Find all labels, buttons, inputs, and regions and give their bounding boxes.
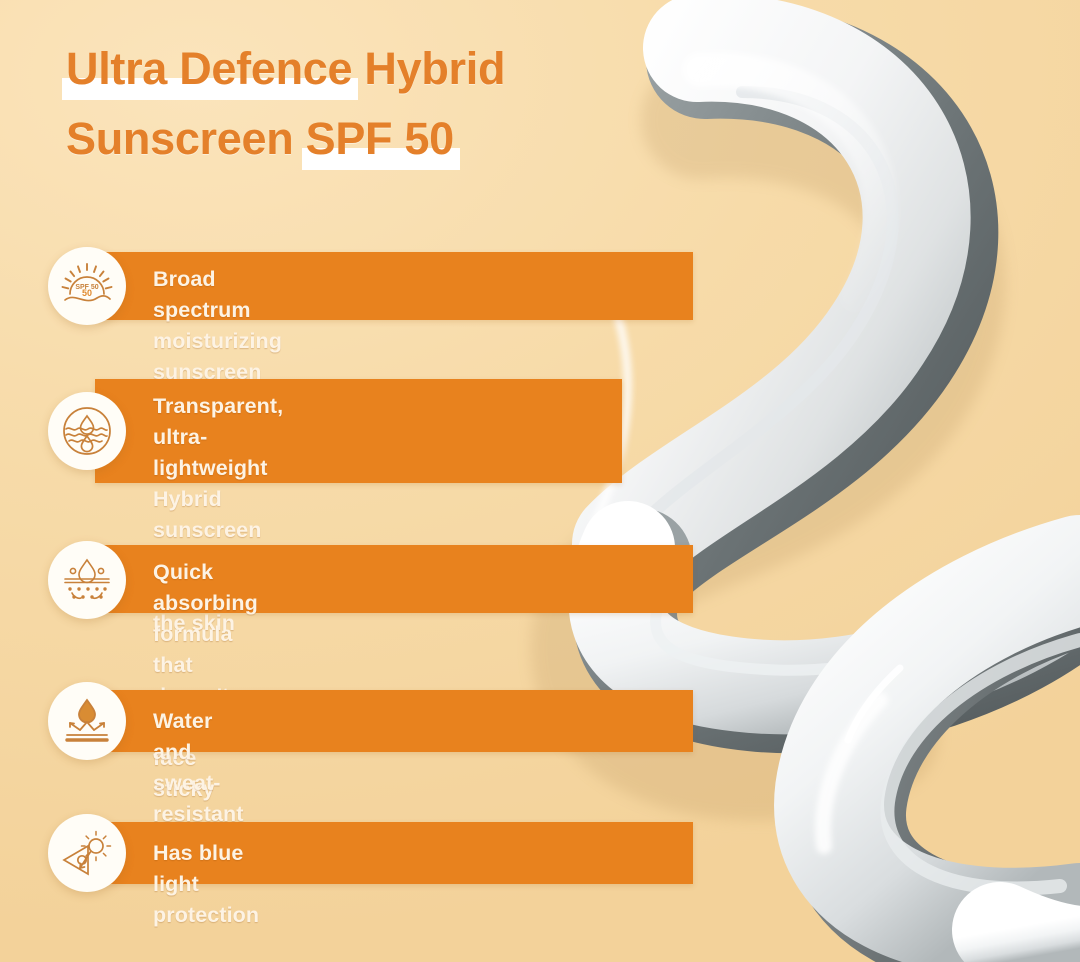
svg-text:50: 50 <box>82 288 92 298</box>
title-line-1: Ultra Defence Hybrid <box>66 34 766 104</box>
title-line-2-plain: Sunscreen <box>66 113 306 164</box>
title-line-1-highlight: Ultra Defence <box>66 34 352 104</box>
title-line-2: Sunscreen SPF 50 <box>66 104 766 174</box>
product-title: Ultra Defence Hybrid Sunscreen SPF 50 <box>66 34 766 174</box>
feature-text: Has blue light protection <box>153 838 259 931</box>
sun-spf-icon: SPF 50 50 <box>48 247 126 325</box>
eye-blue-light-shield-icon <box>48 814 126 892</box>
water-waves-droplet-icon <box>48 392 126 470</box>
droplet-absorb-skin-icon <box>48 541 126 619</box>
title-line-1-rest: Hybrid <box>352 43 505 94</box>
product-infographic: Ultra Defence Hybrid Sunscreen SPF 50 <box>0 0 1080 962</box>
feature-text: Water and sweat-resistant <box>153 706 244 830</box>
title-line-2-highlight: SPF 50 <box>306 104 454 174</box>
water-repellent-surface-icon <box>48 682 126 760</box>
